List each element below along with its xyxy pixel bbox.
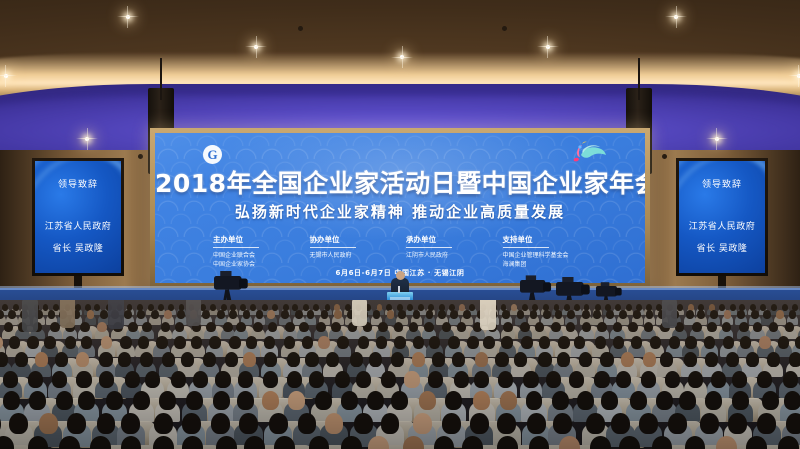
camera-lens [615,288,622,296]
audience-seating [0,300,800,449]
swan-ribbon-emblem [567,141,607,163]
side-left-line2: 江苏省人民政府 [35,223,121,232]
side-right-line3: 省长 吴政隆 [679,245,765,254]
organizer-entry: 无锡市人民政府 [310,251,407,260]
side-right-line2: 江苏省人民政府 [679,223,765,232]
ceiling-speaker-dot [662,154,667,159]
organizer-heading: 主办单位 [213,235,259,248]
camera-lens [581,285,590,295]
organizer-entries: 中国企业联合会中国企业家协会 [213,251,310,269]
side-screen-right: 领导致辞 江苏省人民政府 省长 吴政隆 [676,158,768,276]
camera-viewfinder [601,282,610,286]
main-led-screen-frame: G 2018年全国企业家活动日暨中国企业家年会 弘扬新时代企业家精神 推动企业高… [150,128,650,288]
organizer-heading: 支持单位 [503,235,549,248]
organizer-heading: 协办单位 [310,235,356,248]
organizer-entry: 海澜集团 [503,260,600,269]
ceiling-downlight [797,74,800,78]
ceiling-downlight [4,74,8,78]
side-screen-right-surface: 领导致辞 江苏省人民政府 省长 吴政隆 [679,161,765,273]
camera-viewfinder [220,271,231,276]
side-right-line1: 领导致辞 [679,181,765,190]
organizer-entry: 中国企业家协会 [213,260,310,269]
camera-lens [239,279,248,289]
camera-viewfinder [526,275,536,280]
ceiling-downlight [546,45,550,49]
organizer-column: 承办单位江阴市人民政府 [406,229,503,269]
organizer-column: 主办单位中国企业联合会中国企业家协会 [213,229,310,269]
camera-body [214,276,242,290]
side-screen-left: 领导致辞 江苏省人民政府 省长 吴政隆 [32,158,124,276]
camera-body [520,280,545,293]
organizer-column: 协办单位无锡市人民政府 [310,229,407,269]
conference-hall-photo: 领导致辞 江苏省人民政府 省长 吴政隆 领导致辞 江苏省人民政府 省长 吴政隆 … [0,0,800,449]
ceiling-downlight [674,15,678,19]
organizer-entry: 江阴市人民政府 [406,251,503,260]
organizer-heading: 承办单位 [406,235,452,248]
side-screen-left-surface: 领导致辞 江苏省人民政府 省长 吴政隆 [35,161,121,273]
event-subtitle: 弘扬新时代企业家精神 推动企业高质量发展 [155,205,645,220]
camera-lens [543,282,551,291]
event-title: 2018年全国企业家活动日暨中国企业家年会 [155,171,645,196]
camera-body [556,282,584,296]
organizer-entry: 中国企业管理科学基金会 [503,251,600,260]
organizer-entries: 无锡市人民政府 [310,251,407,260]
organizer-entry: 中国企业联合会 [213,251,310,260]
organizer-column: 支持单位中国企业管理科学基金会海澜集团 [503,229,600,269]
organizer-entries: 江阴市人民政府 [406,251,503,260]
speaker-rigging-right [638,58,640,100]
main-led-screen: G 2018年全国企业家活动日暨中国企业家年会 弘扬新时代企业家精神 推动企业高… [155,133,645,283]
swirl-decor-left-2 [35,161,121,273]
audience-shading [0,300,800,449]
ceiling-downlight [400,55,404,59]
organizer-columns: 主办单位中国企业联合会中国企业家协会协办单位无锡市人民政府承办单位江阴市人民政府… [213,229,599,269]
ceiling-downlight [126,15,130,19]
ceiling-downlight [715,137,719,141]
side-left-line3: 省长 吴政隆 [35,245,121,254]
side-left-line1: 领导致辞 [35,181,121,190]
speaker-person-head [396,271,405,280]
organizer-entries: 中国企业管理科学基金会海澜集团 [503,251,600,269]
microphone [398,286,400,293]
camera-viewfinder [562,277,573,282]
cec-circle-g-logo: G [203,145,222,164]
speaker-rigging-left [160,58,162,100]
camera-body [596,286,617,296]
swirl-decor-right-2 [679,161,765,273]
ceiling-speaker-dot [502,26,507,31]
